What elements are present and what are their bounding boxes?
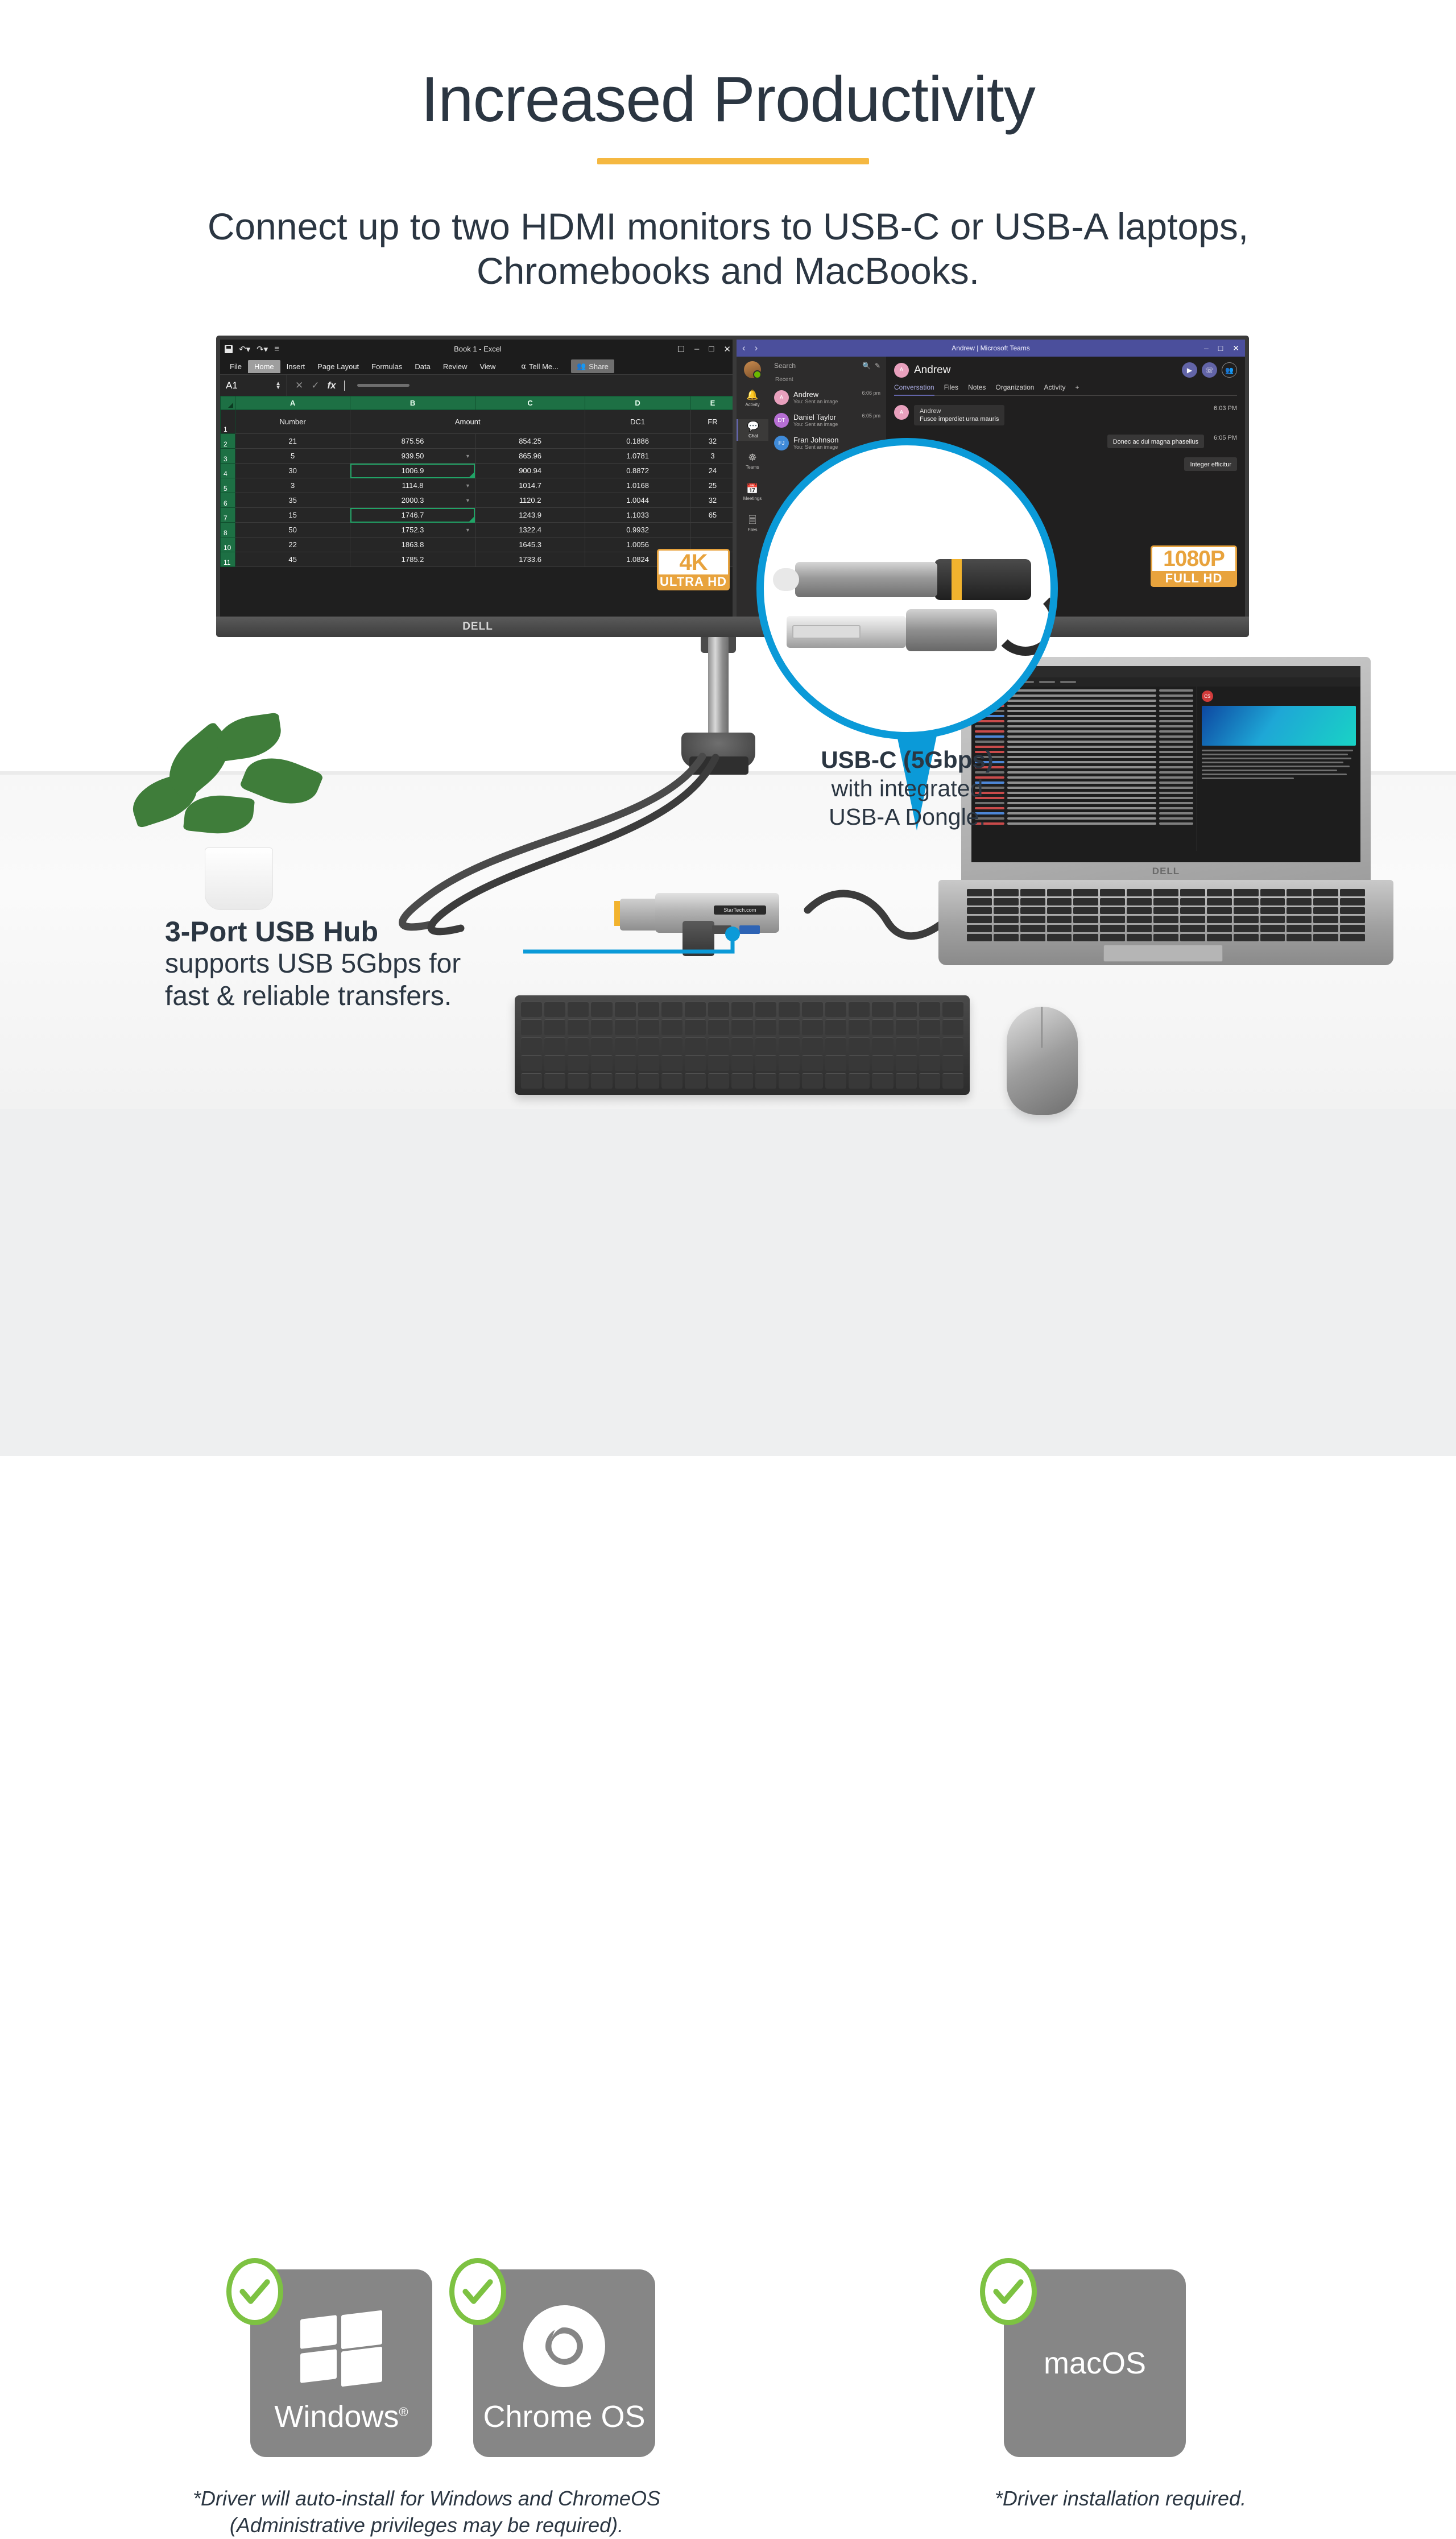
tab-file[interactable]: File	[224, 360, 248, 373]
cell-D4[interactable]: 0.8872	[585, 464, 690, 478]
key[interactable]	[1340, 934, 1365, 941]
key[interactable]	[1234, 889, 1259, 896]
cell-D6[interactable]: 1.0044	[585, 493, 690, 508]
filter-dropdown-icon[interactable]: ▼	[465, 498, 470, 503]
key[interactable]	[779, 1002, 800, 1017]
key[interactable]	[849, 1019, 870, 1035]
key[interactable]	[825, 1002, 846, 1017]
key[interactable]	[661, 1073, 682, 1089]
rail-item-teams[interactable]: ☸ Teams	[737, 450, 768, 472]
formula-bar-content[interactable]	[357, 384, 409, 387]
key[interactable]	[544, 1055, 565, 1070]
key[interactable]	[1340, 889, 1365, 896]
row-header[interactable]: 1	[221, 410, 235, 434]
rail-item-files[interactable]: 🗏 Files	[737, 513, 768, 535]
column-header-a[interactable]: A	[235, 396, 350, 410]
filter-dropdown-icon[interactable]: ▼	[465, 527, 470, 533]
row-header[interactable]: 10	[221, 537, 235, 552]
cell-E5[interactable]: 25	[690, 478, 735, 493]
row-header[interactable]: 4	[221, 464, 235, 478]
formula-bar-icons[interactable]: ✕ ✓ fx	[287, 380, 417, 391]
key[interactable]	[802, 1019, 823, 1035]
row-header[interactable]: 6	[221, 493, 235, 508]
ribbon-display-options-icon[interactable]: ☐	[677, 344, 685, 354]
key[interactable]	[1073, 934, 1098, 941]
tab-review[interactable]: Review	[437, 360, 474, 373]
key[interactable]	[521, 1055, 542, 1070]
key[interactable]	[994, 889, 1019, 896]
key[interactable]	[708, 1019, 729, 1035]
key[interactable]	[1153, 934, 1178, 941]
key[interactable]	[755, 1055, 776, 1070]
tab-insert[interactable]: Insert	[280, 360, 312, 373]
key[interactable]	[967, 907, 992, 915]
back-icon[interactable]: ‹	[742, 342, 746, 354]
list-item[interactable]	[975, 715, 1193, 717]
column-header-c[interactable]: C	[475, 396, 585, 410]
key[interactable]	[638, 1073, 659, 1089]
laptop-trackpad[interactable]	[1103, 945, 1223, 962]
table-row[interactable]: 7151746.71243.91.103365	[221, 508, 735, 523]
key[interactable]	[1313, 907, 1338, 915]
key[interactable]	[615, 1002, 636, 1017]
cell-b1-merged[interactable]: Amount	[350, 410, 585, 434]
row-header[interactable]: 5	[221, 478, 235, 493]
rail-item-meetings[interactable]: 📅 Meetings	[737, 482, 768, 503]
cell-C3[interactable]: 865.96	[475, 449, 585, 464]
key[interactable]	[521, 1019, 542, 1035]
cell-B3[interactable]: 939.50▼	[350, 449, 475, 464]
key[interactable]	[1180, 898, 1205, 905]
cell-B11[interactable]: 1785.2	[350, 552, 475, 567]
key[interactable]	[1153, 907, 1178, 915]
cell-C7[interactable]: 1243.9	[475, 508, 585, 523]
key[interactable]	[942, 1055, 963, 1070]
key[interactable]	[661, 1002, 682, 1017]
key[interactable]	[1127, 934, 1152, 941]
key[interactable]	[1260, 907, 1285, 915]
key[interactable]	[967, 898, 992, 905]
key[interactable]	[1260, 934, 1285, 941]
select-all-corner[interactable]	[221, 396, 235, 410]
key[interactable]	[849, 1055, 870, 1070]
key[interactable]	[591, 1002, 612, 1017]
excel-data-rows[interactable]: 221875.56854.250.18863235939.50▼865.961.…	[221, 434, 735, 567]
key[interactable]	[615, 1037, 636, 1053]
key[interactable]	[755, 1073, 776, 1089]
key[interactable]	[1127, 898, 1152, 905]
key[interactable]	[825, 1055, 846, 1070]
tab-view[interactable]: View	[473, 360, 502, 373]
key[interactable]	[708, 1037, 729, 1053]
row-header[interactable]: 11	[221, 552, 235, 567]
key[interactable]	[615, 1019, 636, 1035]
key[interactable]	[919, 1073, 940, 1089]
cell-D8[interactable]: 0.9932	[585, 523, 690, 537]
key[interactable]	[1180, 916, 1205, 923]
key[interactable]	[942, 1002, 963, 1017]
key[interactable]	[568, 1073, 589, 1089]
key[interactable]	[685, 1019, 706, 1035]
key[interactable]	[825, 1073, 846, 1089]
list-item[interactable]	[975, 730, 1193, 733]
cell-E8[interactable]	[690, 523, 735, 537]
key[interactable]	[802, 1002, 823, 1017]
key[interactable]	[1287, 916, 1312, 923]
key[interactable]	[1127, 907, 1152, 915]
search-bar[interactable]: Search 🔍 ✎	[774, 362, 880, 370]
key[interactable]	[1153, 889, 1178, 896]
external-keyboard[interactable]	[515, 995, 970, 1095]
save-icon[interactable]	[225, 345, 233, 353]
cell-B6[interactable]: 2000.3▼	[350, 493, 475, 508]
key[interactable]	[1127, 916, 1152, 923]
key[interactable]	[1313, 889, 1338, 896]
key[interactable]	[1313, 934, 1338, 941]
cell-A6[interactable]: 35	[235, 493, 350, 508]
key[interactable]	[825, 1019, 846, 1035]
key[interactable]	[872, 1073, 893, 1089]
key[interactable]	[521, 1037, 542, 1053]
customize-toolbar-icon[interactable]: ≡	[274, 344, 279, 354]
insert-function-icon[interactable]: fx	[328, 380, 336, 391]
key[interactable]	[568, 1019, 589, 1035]
key[interactable]	[1073, 898, 1098, 905]
key[interactable]	[1234, 925, 1259, 932]
key[interactable]	[1020, 916, 1045, 923]
key[interactable]	[1047, 889, 1072, 896]
key[interactable]	[994, 898, 1019, 905]
key[interactable]	[1207, 898, 1232, 905]
key[interactable]	[1100, 925, 1125, 932]
table-row[interactable]: 531114.8▼1014.71.016825	[221, 478, 735, 493]
teams-nav-arrows[interactable]: ‹ ›	[742, 342, 758, 354]
key[interactable]	[685, 1055, 706, 1070]
cell-C4[interactable]: 900.94	[475, 464, 585, 478]
rail-item-chat[interactable]: 💬 Chat	[737, 419, 768, 441]
cell-A11[interactable]: 45	[235, 552, 350, 567]
cell-C10[interactable]: 1645.3	[475, 537, 585, 552]
key[interactable]	[896, 1019, 917, 1035]
key[interactable]	[1100, 916, 1125, 923]
key[interactable]	[1047, 934, 1072, 941]
key[interactable]	[849, 1002, 870, 1017]
key[interactable]	[1234, 907, 1259, 915]
key[interactable]	[942, 1073, 963, 1089]
key[interactable]	[731, 1002, 752, 1017]
key[interactable]	[1287, 889, 1312, 896]
cell-B4[interactable]: 1006.9	[350, 464, 475, 478]
conversation-tabs[interactable]: Conversation Files Notes Organization Ac…	[894, 383, 1237, 396]
key[interactable]	[1047, 916, 1072, 923]
enter-icon[interactable]: ✓	[311, 380, 319, 391]
undo-icon[interactable]: ↶▾	[239, 344, 250, 354]
key[interactable]	[1207, 889, 1232, 896]
key[interactable]	[1207, 907, 1232, 915]
key[interactable]	[591, 1019, 612, 1035]
key[interactable]	[661, 1055, 682, 1070]
key[interactable]	[755, 1002, 776, 1017]
key[interactable]	[994, 907, 1019, 915]
audio-call-icon[interactable]: ☏	[1202, 362, 1217, 378]
key[interactable]	[942, 1019, 963, 1035]
key[interactable]	[1234, 934, 1259, 941]
cell-E6[interactable]: 32	[690, 493, 735, 508]
key[interactable]	[685, 1002, 706, 1017]
key[interactable]	[1207, 934, 1232, 941]
redo-icon[interactable]: ↷▾	[257, 344, 268, 354]
key[interactable]	[591, 1037, 612, 1053]
avatar[interactable]	[744, 361, 761, 378]
excel-formula-bar[interactable]: A1 ▲▼ ✕ ✓ fx	[220, 374, 735, 396]
key[interactable]	[1020, 907, 1045, 915]
cell-C2[interactable]: 854.25	[475, 434, 585, 449]
key[interactable]	[544, 1019, 565, 1035]
key[interactable]	[779, 1019, 800, 1035]
key[interactable]	[779, 1037, 800, 1053]
key[interactable]	[544, 1073, 565, 1089]
key[interactable]	[1313, 898, 1338, 905]
key[interactable]	[661, 1019, 682, 1035]
compose-icon[interactable]: ✎	[875, 362, 880, 370]
cell-B10[interactable]: 1863.8	[350, 537, 475, 552]
cell-E3[interactable]: 3	[690, 449, 735, 464]
column-header-b[interactable]: B	[350, 396, 475, 410]
key[interactable]	[638, 1037, 659, 1053]
laptop-keyboard[interactable]	[967, 889, 1365, 941]
key[interactable]	[919, 1055, 940, 1070]
key[interactable]	[1020, 934, 1045, 941]
key[interactable]	[1260, 898, 1285, 905]
key[interactable]	[1100, 889, 1125, 896]
key[interactable]	[568, 1055, 589, 1070]
key[interactable]	[1207, 916, 1232, 923]
row-header[interactable]: 7	[221, 508, 235, 523]
key[interactable]	[1287, 898, 1312, 905]
key[interactable]	[779, 1055, 800, 1070]
key[interactable]	[731, 1055, 752, 1070]
mail-toolbar[interactable]	[971, 677, 1360, 687]
key[interactable]	[1047, 898, 1072, 905]
key[interactable]	[802, 1055, 823, 1070]
cell-C8[interactable]: 1322.4	[475, 523, 585, 537]
cell-D3[interactable]: 1.0781	[585, 449, 690, 464]
forward-icon[interactable]: ›	[755, 342, 758, 354]
key[interactable]	[942, 1037, 963, 1053]
key[interactable]	[1153, 925, 1178, 932]
excel-window-controls[interactable]: ☐ ‒ □ ✕	[677, 344, 731, 354]
cell-A5[interactable]: 3	[235, 478, 350, 493]
key[interactable]	[919, 1019, 940, 1035]
search-icon[interactable]: 🔍	[862, 362, 871, 370]
maximize-icon[interactable]: □	[709, 344, 714, 354]
tell-me-search[interactable]: ⍺ Tell Me...	[521, 362, 559, 371]
tab-notes[interactable]: Notes	[968, 383, 986, 392]
list-item[interactable]	[975, 725, 1193, 727]
cell-E7[interactable]: 65	[690, 508, 735, 523]
key[interactable]	[967, 916, 992, 923]
tab-organization[interactable]: Organization	[995, 383, 1034, 392]
close-icon[interactable]: ✕	[723, 344, 731, 354]
key[interactable]	[708, 1073, 729, 1089]
key[interactable]	[1047, 925, 1072, 932]
key[interactable]	[849, 1073, 870, 1089]
key[interactable]	[825, 1037, 846, 1053]
key[interactable]	[919, 1037, 940, 1053]
key[interactable]	[1340, 925, 1365, 932]
column-header-d[interactable]: D	[585, 396, 690, 410]
tab-activity[interactable]: Activity	[1044, 383, 1065, 392]
key[interactable]	[1020, 898, 1045, 905]
list-item[interactable]	[975, 710, 1193, 712]
key[interactable]	[967, 925, 992, 932]
key[interactable]	[544, 1037, 565, 1053]
key[interactable]	[967, 889, 992, 896]
key[interactable]	[1020, 925, 1045, 932]
key[interactable]	[1207, 925, 1232, 932]
cell-A2[interactable]: 21	[235, 434, 350, 449]
tab-conversation[interactable]: Conversation	[894, 383, 934, 396]
cell-D7[interactable]: 1.1033	[585, 508, 690, 523]
key[interactable]	[638, 1019, 659, 1035]
cell-a1[interactable]: Number	[235, 410, 350, 434]
filter-dropdown-icon[interactable]: ▼	[465, 483, 470, 489]
key[interactable]	[1260, 916, 1285, 923]
cell-E2[interactable]: 32	[690, 434, 735, 449]
list-item[interactable]	[975, 720, 1193, 722]
key[interactable]	[1287, 907, 1312, 915]
key[interactable]	[638, 1002, 659, 1017]
key[interactable]	[1180, 907, 1205, 915]
share-button[interactable]: 👥 Share	[571, 359, 614, 373]
add-people-icon[interactable]: 👥	[1222, 362, 1237, 378]
cell-B8[interactable]: 1752.3▼	[350, 523, 475, 537]
key[interactable]	[994, 916, 1019, 923]
excel-grid[interactable]: A B C D E 1 Number Amount DC1 FR 221875.…	[220, 396, 735, 567]
teams-window-controls[interactable]: ‒ □ ✕	[1204, 344, 1239, 353]
rail-item-activity[interactable]: 🔔 Activity	[737, 388, 768, 410]
tab-add[interactable]: +	[1075, 383, 1079, 392]
key[interactable]	[1234, 898, 1259, 905]
key[interactable]	[1100, 934, 1125, 941]
key[interactable]	[1340, 916, 1365, 923]
key[interactable]	[896, 1055, 917, 1070]
key[interactable]	[1100, 907, 1125, 915]
key[interactable]	[1180, 934, 1205, 941]
key[interactable]	[779, 1073, 800, 1089]
key[interactable]	[896, 1037, 917, 1053]
key[interactable]	[1260, 925, 1285, 932]
minimize-icon[interactable]: ‒	[1204, 344, 1209, 353]
tab-formulas[interactable]: Formulas	[365, 360, 408, 373]
tab-data[interactable]: Data	[408, 360, 436, 373]
cell-C5[interactable]: 1014.7	[475, 478, 585, 493]
cell-E4[interactable]: 24	[690, 464, 735, 478]
list-item[interactable]: DTDaniel TaylorYou: Sent an image6:05 pm	[768, 409, 886, 432]
key[interactable]	[568, 1037, 589, 1053]
table-row[interactable]: 6352000.3▼1120.21.004432	[221, 493, 735, 508]
key[interactable]	[1073, 925, 1098, 932]
key[interactable]	[544, 1002, 565, 1017]
key[interactable]	[1073, 889, 1098, 896]
row-header[interactable]: 3	[221, 449, 235, 464]
list-item[interactable]	[975, 741, 1193, 743]
cell-B7[interactable]: 1746.7	[350, 508, 475, 523]
key[interactable]	[919, 1002, 940, 1017]
key[interactable]	[1313, 916, 1338, 923]
list-item[interactable]: AAndrewYou: Sent an image6:06 pm	[768, 386, 886, 409]
key[interactable]	[615, 1055, 636, 1070]
key[interactable]	[1153, 916, 1178, 923]
key[interactable]	[755, 1019, 776, 1035]
name-box-spinner-icon[interactable]: ▲▼	[275, 382, 281, 390]
table-row[interactable]: 35939.50▼865.961.07813	[221, 449, 735, 464]
key[interactable]	[1127, 889, 1152, 896]
cancel-icon[interactable]: ✕	[295, 380, 303, 391]
cell-D2[interactable]: 0.1886	[585, 434, 690, 449]
key[interactable]	[1073, 916, 1098, 923]
name-box[interactable]: A1 ▲▼	[220, 375, 287, 396]
excel-ribbon-tabs[interactable]: File Home Insert Page Layout Formulas Da…	[220, 358, 735, 374]
table-row[interactable]: 4301006.9900.940.887224	[221, 464, 735, 478]
cell-d1[interactable]: DC1	[585, 410, 690, 434]
list-item[interactable]	[975, 705, 1193, 707]
close-icon[interactable]: ✕	[1232, 344, 1239, 353]
key[interactable]	[685, 1037, 706, 1053]
minimize-icon[interactable]: ‒	[694, 344, 699, 354]
key[interactable]	[638, 1055, 659, 1070]
key[interactable]	[661, 1037, 682, 1053]
key[interactable]	[1020, 889, 1045, 896]
key[interactable]	[1340, 898, 1365, 905]
key[interactable]	[1340, 907, 1365, 915]
list-item[interactable]	[975, 735, 1193, 738]
maximize-icon[interactable]: □	[1218, 344, 1223, 353]
key[interactable]	[994, 925, 1019, 932]
key[interactable]	[1287, 925, 1312, 932]
key[interactable]	[591, 1073, 612, 1089]
key[interactable]	[802, 1037, 823, 1053]
row-header[interactable]: 8	[221, 523, 235, 537]
key[interactable]	[1260, 889, 1285, 896]
tab-files[interactable]: Files	[944, 383, 958, 392]
key[interactable]	[731, 1073, 752, 1089]
column-header-e[interactable]: E	[690, 396, 735, 410]
key[interactable]	[685, 1073, 706, 1089]
cell-C11[interactable]: 1733.6	[475, 552, 585, 567]
key[interactable]	[755, 1037, 776, 1053]
key[interactable]	[568, 1002, 589, 1017]
key[interactable]	[872, 1037, 893, 1053]
key[interactable]	[521, 1002, 542, 1017]
key[interactable]	[521, 1073, 542, 1089]
cell-B2[interactable]: 875.56	[350, 434, 475, 449]
cell-A7[interactable]: 15	[235, 508, 350, 523]
key[interactable]	[1180, 925, 1205, 932]
cell-A4[interactable]: 30	[235, 464, 350, 478]
key[interactable]	[1100, 898, 1125, 905]
key[interactable]	[1153, 898, 1178, 905]
filter-dropdown-icon[interactable]: ▼	[465, 453, 470, 459]
key[interactable]	[1180, 889, 1205, 896]
row-header[interactable]: 2	[221, 434, 235, 449]
table-row[interactable]: 1 Number Amount DC1 FR	[221, 410, 735, 434]
key[interactable]	[1127, 925, 1152, 932]
key[interactable]	[731, 1037, 752, 1053]
key[interactable]	[1047, 907, 1072, 915]
excel-quick-access-toolbar[interactable]: ↶▾ ↷▾ ≡	[225, 344, 279, 354]
table-row[interactable]: 8501752.3▼1322.40.9932	[221, 523, 735, 537]
